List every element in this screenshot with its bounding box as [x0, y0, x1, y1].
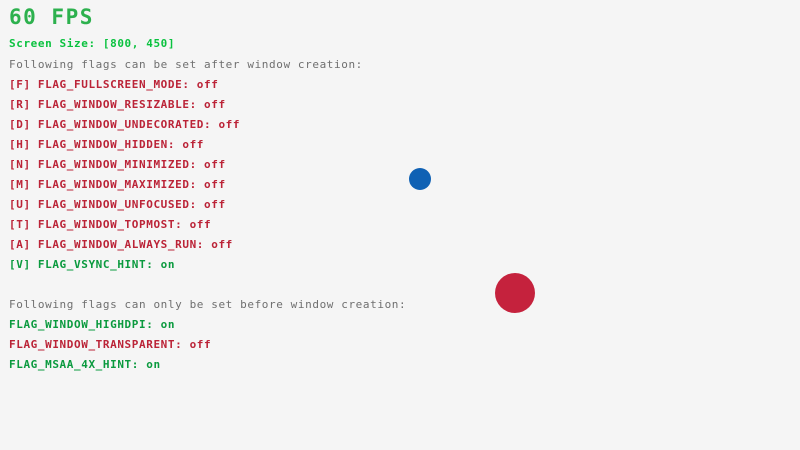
flag-window-hidden[interactable]: [H] FLAG_WINDOW_HIDDEN: off — [9, 139, 204, 150]
raylib-window: 60 FPS Screen Size: [800, 450] Following… — [0, 0, 800, 450]
flag-window-resizable[interactable]: [R] FLAG_WINDOW_RESIZABLE: off — [9, 99, 226, 110]
flag-window-topmost[interactable]: [T] FLAG_WINDOW_TOPMOST: off — [9, 219, 211, 230]
flag-window-maximized[interactable]: [M] FLAG_WINDOW_MAXIMIZED: off — [9, 179, 226, 190]
flag-window-unfocused[interactable]: [U] FLAG_WINDOW_UNFOCUSED: off — [9, 199, 226, 210]
fps-counter: 60 FPS — [9, 7, 94, 28]
flag-window-minimized[interactable]: [N] FLAG_WINDOW_MINIMIZED: off — [9, 159, 226, 170]
note-flags-before-creation: Following flags can only be set before w… — [9, 299, 406, 310]
flag-vsync-hint[interactable]: [V] FLAG_VSYNC_HINT: on — [9, 259, 175, 270]
note-flags-after-creation: Following flags can be set after window … — [9, 59, 363, 70]
red-ball-shape — [495, 273, 535, 313]
flag-window-transparent: FLAG_WINDOW_TRANSPARENT: off — [9, 339, 211, 350]
flag-msaa-4x-hint: FLAG_MSAA_4X_HINT: on — [9, 359, 161, 370]
blue-ball-shape — [409, 168, 431, 190]
flag-window-undecorated[interactable]: [D] FLAG_WINDOW_UNDECORATED: off — [9, 119, 240, 130]
flag-window-always-run[interactable]: [A] FLAG_WINDOW_ALWAYS_RUN: off — [9, 239, 233, 250]
flag-window-highdpi: FLAG_WINDOW_HIGHDPI: on — [9, 319, 175, 330]
flag-fullscreen-mode[interactable]: [F] FLAG_FULLSCREEN_MODE: off — [9, 79, 218, 90]
screen-size-label: Screen Size: [800, 450] — [9, 38, 175, 49]
